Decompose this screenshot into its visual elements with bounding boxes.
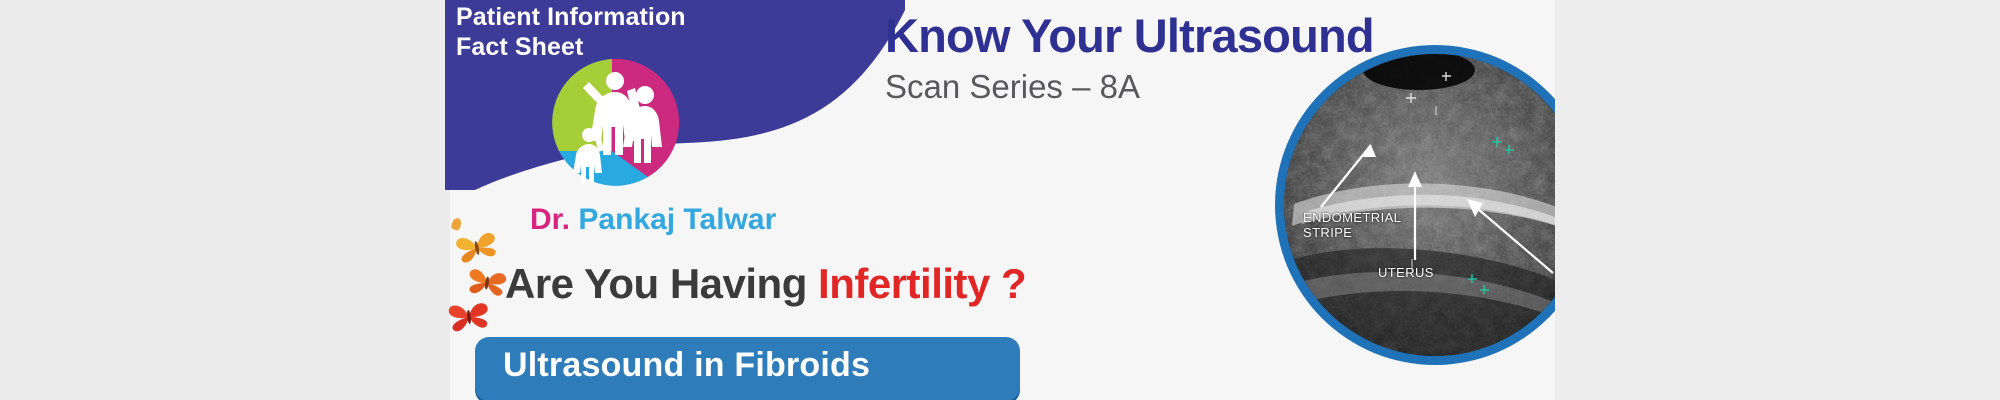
scan-label-endometrial-stripe: ENDOMETRIAL STRIPE [1303,210,1401,241]
topic-banner-label: Ultrasound in Fibroids [503,346,870,385]
infertility-headline: Are You Having Infertility ? [505,260,1026,308]
background-left [0,0,450,400]
scan-label-endometrial-line-2: STRIPE [1303,225,1401,240]
butterfly-red-icon [447,300,491,334]
factsheet-heading: Patient Information Fact Sheet [456,2,786,62]
doctor-name: Dr. Pankaj Talwar [530,203,776,237]
doctor-person-name: Pankaj Talwar [578,203,776,236]
scan-label-uterus-line-1: UTERUS [1378,265,1434,280]
scan-label-endometrial-line-1: ENDOMETRIAL [1303,210,1401,225]
headline-part-1: Are You Having [505,260,807,307]
page-subtitle: Scan Series – 8A [885,68,1140,106]
scan-label-uterus: UTERUS [1378,265,1434,280]
patient-information-banner: Patient Information Fact Sheet [0,0,2000,400]
headline-part-2: Infertility ? [818,260,1026,307]
topic-banner[interactable]: Ultrasound in Fibroids [475,337,1020,400]
butterfly-orange-icon [466,268,508,299]
doctor-title: Dr. [530,203,570,236]
page-title: Know Your Ultrasound [885,8,1374,63]
family-circle-logo [545,55,680,190]
factsheet-line-1: Patient Information [456,2,786,32]
butterfly-yellow-icon [455,232,499,264]
background-right [1555,0,2000,400]
